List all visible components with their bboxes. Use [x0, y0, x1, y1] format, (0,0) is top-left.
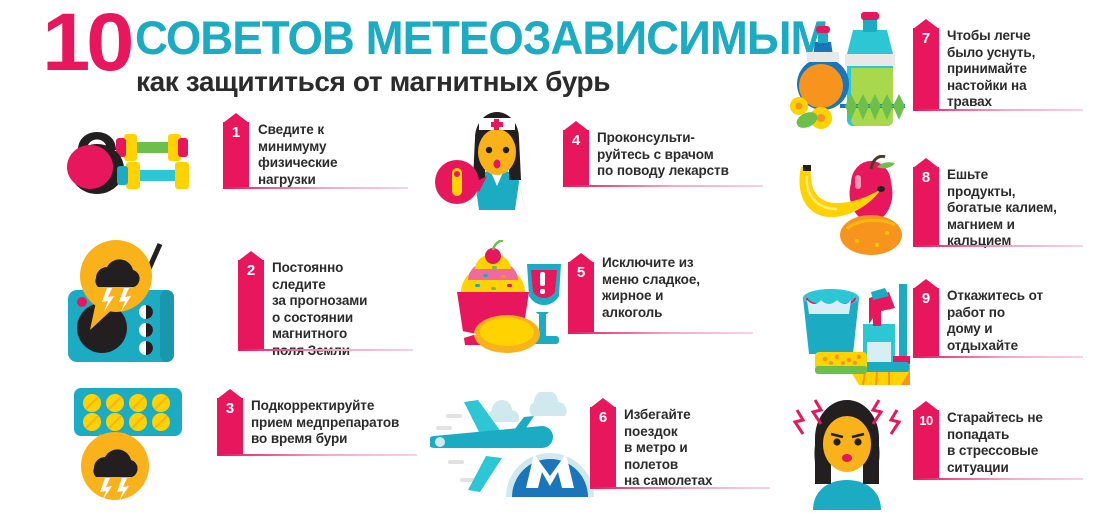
tip-2: 2 Постоянно следите за прогнозами о сост…: [60, 232, 380, 362]
tip-rule-7: [913, 109, 1083, 111]
marker-cap-icon: [223, 113, 249, 123]
marker-cap-icon: [913, 158, 939, 168]
tip-text-4: Проконсульти- руйтесь с врачом по поводу…: [597, 130, 772, 180]
infographic-header: 10 СОВЕТОВ МЕТЕОЗАВИСИМЫМ как защититься…: [0, 0, 760, 104]
tip-number-2: 2: [238, 263, 264, 279]
tip-10: 10 Старайтесь не попадать в стрессовые с…: [785, 392, 1114, 510]
tip-rule-9: [913, 356, 1083, 358]
tip-rule-10: [913, 478, 1083, 480]
tip-text-9: Откажитесь от работ по дому и отдыхайте: [947, 288, 1112, 354]
radio-storm-forecast-icon: [60, 232, 188, 372]
tip-rule-1: [223, 187, 408, 189]
tip-text-8: Ешьте продукты, богатые калием, магнием …: [947, 167, 1114, 250]
kettlebell-dumbbells-icon: [60, 114, 190, 196]
tip-rule-6: [590, 487, 770, 489]
tip-rule-3: [217, 454, 417, 456]
tip-text-2: Постоянно следите за прогнозами о состоя…: [272, 260, 432, 360]
tip-marker-8: 8: [913, 167, 939, 245]
marker-cap-icon: [913, 19, 939, 29]
tip-9: 9 Откажитесь от работ по дому и отдыхайт…: [785, 270, 1114, 385]
header-number: 10: [42, 4, 130, 82]
tip-number-6: 6: [590, 410, 616, 426]
marker-cap-icon: [913, 279, 939, 289]
marker-cap-icon: [568, 253, 594, 263]
tip-marker-5: 5: [568, 262, 594, 332]
tip-rule-5: [568, 332, 753, 334]
tip-marker-3: 3: [217, 398, 243, 454]
tip-marker-10: 10: [913, 410, 939, 478]
tip-number-9: 9: [913, 291, 939, 307]
tip-marker-6: 6: [590, 407, 616, 487]
tip-marker-7: 7: [913, 28, 939, 109]
tip-marker-9: 9: [913, 288, 939, 356]
page-subtitle: как защититься от магнитных бурь: [136, 66, 610, 98]
marker-cap-icon: [217, 389, 243, 399]
tip-number-10: 10: [913, 413, 939, 429]
tip-number-5: 5: [568, 265, 594, 281]
tip-5: 5 Исключите из меню сладкое, жирное и ал…: [435, 240, 755, 358]
tip-number-3: 3: [217, 401, 243, 417]
tip-number-4: 4: [563, 133, 589, 149]
airplane-metro-icon: [430, 392, 595, 507]
tip-6: 6 Избегайте поездок в метро и полетов на…: [430, 392, 760, 504]
tip-7: 7 Чтобы легче было уснуть, принимайте на…: [785, 8, 1114, 128]
tip-text-3: Подкорректируйте прием медпрепаратов во …: [251, 398, 431, 448]
tip-number-8: 8: [913, 170, 939, 186]
marker-cap-icon: [238, 251, 264, 261]
tip-rule-8: [913, 245, 1083, 247]
tip-text-6: Избегайте поездок в метро и полетов на с…: [624, 407, 779, 490]
marker-cap-icon: [590, 398, 616, 408]
tip-text-10: Старайтесь не попадать в стрессовые ситу…: [947, 410, 1114, 476]
tip-3: 3 Подкорректируйте прием медпрепаратов в…: [60, 382, 380, 500]
cleaning-supplies-icon: [785, 270, 910, 385]
tip-rule-2: [238, 349, 413, 351]
cupcake-wineglass-chicken-icon: [435, 240, 567, 355]
marker-cap-icon: [913, 401, 939, 411]
infographic-root: 10 СОВЕТОВ МЕТЕОЗАВИСИМЫМ как защититься…: [0, 0, 1114, 513]
fruits-banana-apple-orange-icon: [785, 155, 910, 260]
tip-text-5: Исключите из меню сладкое, жирное и алко…: [602, 255, 762, 321]
herbal-tincture-bottles-icon: [785, 8, 910, 133]
tip-marker-1: 1: [223, 122, 249, 187]
tip-1: 1 Сведите к минимуму физические нагрузки: [60, 110, 360, 215]
page-title: СОВЕТОВ МЕТЕОЗАВИСИМЫМ: [135, 12, 828, 64]
marker-cap-icon: [563, 121, 589, 131]
tip-8: 8 Ешьте продукты, богатые калием, магние…: [785, 155, 1114, 260]
tip-text-1: Сведите к минимуму физические нагрузки: [258, 122, 408, 188]
tip-marker-4: 4: [563, 130, 589, 185]
doctor-nurse-info-icon: [435, 110, 560, 210]
tip-text-7: Чтобы легче было уснуть, принимайте наст…: [947, 28, 1107, 111]
tip-rule-4: [563, 185, 763, 187]
stressed-woman-icon: [785, 392, 910, 510]
tip-number-1: 1: [223, 125, 249, 141]
tip-marker-2: 2: [238, 260, 264, 349]
tip-number-7: 7: [913, 31, 939, 47]
pill-blister-storm-icon: [60, 382, 192, 502]
tip-4: 4 Проконсульти- руйтесь с врачом по пово…: [435, 110, 765, 210]
